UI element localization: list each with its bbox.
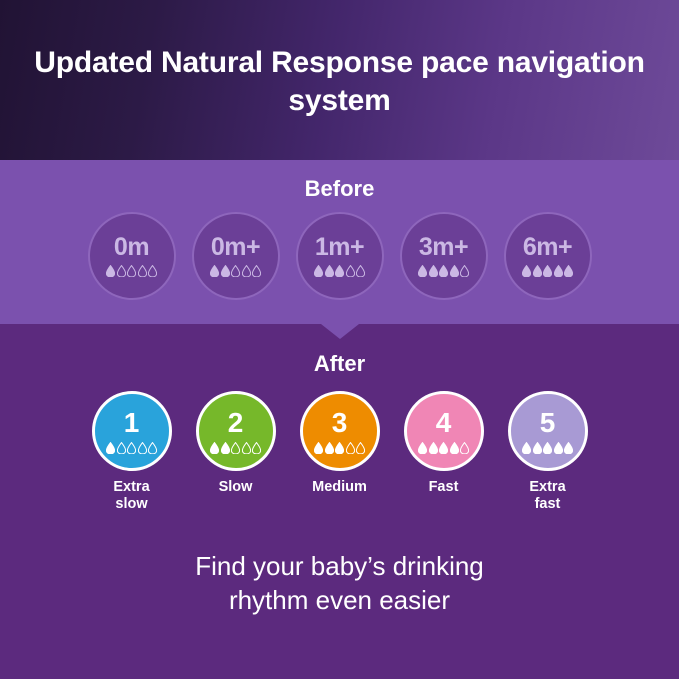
droplet-icon [356,442,365,454]
after-circle-row: 1Extra slow2Slow3Medium4Fast5Extra fast [0,391,679,513]
droplet-icon [439,265,448,277]
droplet-icon [252,442,261,454]
after-droplet-meter [106,442,157,454]
after-item-caption: Extra slow [113,479,149,513]
before-flow-circle: 6m+ [504,212,592,300]
droplet-icon [429,442,438,454]
after-item-number: 1 [124,409,140,437]
after-item-caption: Fast [429,479,459,496]
droplet-icon [210,265,219,277]
after-flow-circle: 3 [300,391,380,471]
droplet-icon [460,442,469,454]
droplet-icon [439,442,448,454]
droplet-icon [325,442,334,454]
droplet-icon [231,442,240,454]
droplet-icon [221,442,230,454]
header-banner: Updated Natural Response pace navigation… [0,0,679,160]
footer-tagline: Find your baby’s drinking rhythm even ea… [0,550,679,618]
chevron-down-icon [321,324,359,339]
droplet-icon [106,442,115,454]
droplet-icon [346,442,355,454]
droplet-icon [210,442,219,454]
droplet-icon [450,265,459,277]
droplet-icon [554,442,563,454]
before-item-label: 0m+ [211,235,260,260]
droplet-icon [138,265,147,277]
droplet-icon [231,265,240,277]
droplet-icon [117,442,126,454]
droplet-icon [138,442,147,454]
droplet-icon [127,265,136,277]
before-droplet-meter [314,265,365,277]
droplet-icon [533,442,542,454]
before-droplet-meter [522,265,573,277]
footer-area: Find your baby’s drinking rhythm even ea… [0,550,679,618]
droplet-icon [127,442,136,454]
droplet-icon [564,442,573,454]
before-item-label: 3m+ [419,235,468,260]
after-droplet-meter [314,442,365,454]
before-flow-circle: 1m+ [296,212,384,300]
droplet-icon [106,265,115,277]
droplet-icon [460,265,469,277]
before-item-label: 0m [114,235,149,260]
after-flow-circle: 5 [508,391,588,471]
before-item: 3m+ [398,212,490,300]
before-flow-circle: 0m+ [192,212,280,300]
droplet-icon [429,265,438,277]
droplet-icon [450,442,459,454]
droplet-icon [148,265,157,277]
before-flow-circle: 0m [88,212,176,300]
after-item: 1Extra slow [86,391,178,513]
droplet-icon [543,442,552,454]
droplet-icon [117,265,126,277]
droplet-icon [242,442,251,454]
droplet-icon [418,265,427,277]
droplet-icon [346,265,355,277]
droplet-icon [325,265,334,277]
droplet-icon [533,265,542,277]
before-item: 0m [86,212,178,300]
after-item-number: 5 [540,409,556,437]
droplet-icon [314,442,323,454]
before-droplet-meter [418,265,469,277]
droplet-icon [252,265,261,277]
before-section: Before 0m0m+1m+3m+6m+ [0,160,679,324]
after-item-number: 2 [228,409,244,437]
after-item: 4Fast [398,391,490,496]
droplet-icon [242,265,251,277]
after-flow-circle: 4 [404,391,484,471]
droplet-icon [564,265,573,277]
before-item: 1m+ [294,212,386,300]
droplet-icon [356,265,365,277]
after-droplet-meter [210,442,261,454]
droplet-icon [335,442,344,454]
droplet-icon [314,265,323,277]
after-section: After 1Extra slow2Slow3Medium4Fast5Extra… [0,345,679,513]
droplet-icon [522,265,531,277]
after-item-number: 4 [436,409,452,437]
before-droplet-meter [210,265,261,277]
after-droplet-meter [522,442,573,454]
droplet-icon [522,442,531,454]
after-item: 5Extra fast [502,391,594,513]
before-item: 0m+ [190,212,282,300]
droplet-icon [554,265,563,277]
before-heading: Before [0,176,679,202]
before-droplet-meter [106,265,157,277]
after-item: 3Medium [294,391,386,496]
before-item-label: 6m+ [523,235,572,260]
page-title: Updated Natural Response pace navigation… [0,40,679,120]
after-heading: After [0,351,679,377]
droplet-icon [418,442,427,454]
droplet-icon [148,442,157,454]
before-item: 6m+ [502,212,594,300]
before-circle-row: 0m0m+1m+3m+6m+ [0,212,679,300]
droplet-icon [221,265,230,277]
after-item-number: 3 [332,409,348,437]
before-item-label: 1m+ [315,235,364,260]
after-flow-circle: 1 [92,391,172,471]
after-item-caption: Extra fast [529,479,565,513]
after-droplet-meter [418,442,469,454]
after-item: 2Slow [190,391,282,496]
after-item-caption: Medium [312,479,367,496]
before-flow-circle: 3m+ [400,212,488,300]
droplet-icon [335,265,344,277]
after-flow-circle: 2 [196,391,276,471]
after-item-caption: Slow [219,479,253,496]
droplet-icon [543,265,552,277]
